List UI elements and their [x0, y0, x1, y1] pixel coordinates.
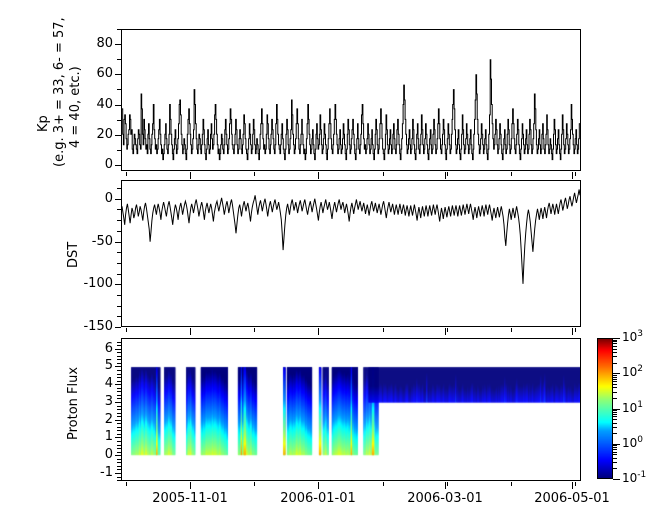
proton-flux-y-minor-tick — [117, 462, 121, 463]
colorbar-major-tick — [613, 373, 620, 374]
kp-axis-title-line3: 4 = 40, etc.) — [68, 66, 83, 148]
kp-axis-title-line1: Kp — [36, 115, 51, 132]
x-tick-label: 2006-03-01 — [390, 491, 500, 506]
x-major-tick — [445, 482, 446, 489]
proton-flux-y-minor-tick — [117, 381, 121, 382]
colorbar-minor-tick — [613, 454, 617, 455]
dst-y-tick-label: -100 — [59, 276, 113, 291]
dst-y-major-tick — [115, 284, 121, 285]
kp-y-tick-label: 80 — [59, 36, 113, 51]
colorbar-minor-tick — [613, 445, 617, 446]
proton-flux-y-minor-tick — [117, 398, 121, 399]
x-minor-tick — [447, 328, 448, 332]
colorbar-label-exponent: 3 — [637, 329, 643, 339]
proton-flux-axis-title: Proton Flux — [66, 367, 81, 440]
proton-flux-y-major-tick — [115, 455, 121, 456]
colorbar-minor-tick — [613, 449, 617, 450]
proton-flux-y-minor-tick — [117, 352, 121, 353]
proton-flux-y-minor-tick — [117, 477, 121, 478]
colorbar-minor-tick — [613, 349, 617, 350]
colorbar-minor-tick — [613, 356, 617, 357]
colorbar-minor-tick — [613, 414, 617, 415]
colorbar-minor-tick — [613, 343, 617, 344]
colorbar-minor-tick — [613, 346, 617, 347]
colorbar-tick-label: 100 — [622, 435, 643, 450]
x-tick-label: 2006-05-01 — [517, 491, 627, 506]
proton-flux-y-minor-tick — [117, 413, 121, 414]
dst-trace — [122, 181, 580, 326]
colorbar-tick-label: 102 — [622, 364, 643, 379]
proton-flux-y-minor-tick — [117, 466, 121, 467]
proton-flux-y-minor-tick — [117, 441, 121, 442]
kp-y-tick-label: 0 — [59, 157, 113, 172]
dst-line — [122, 189, 580, 283]
x-minor-tick — [575, 482, 576, 486]
proton-flux-y-minor-tick — [117, 359, 121, 360]
colorbar-minor-tick — [613, 419, 617, 420]
kp-y-major-tick — [115, 74, 121, 75]
x-major-tick — [190, 172, 191, 179]
proton-flux-y-minor-tick — [117, 480, 121, 481]
x-minor-tick — [511, 328, 512, 332]
dst-y-tick-label: -150 — [59, 319, 113, 334]
proton-flux-y-minor-tick — [117, 416, 121, 417]
colorbar-minor-tick — [613, 392, 617, 393]
proton-flux-y-minor-tick — [117, 459, 121, 460]
proton-flux-y-minor-tick — [117, 370, 121, 371]
proton-flux-y-minor-tick — [117, 391, 121, 392]
dst-y-minor-tick — [117, 188, 121, 189]
x-minor-tick — [383, 482, 384, 486]
proton-flux-plot-panel — [121, 338, 581, 481]
proton-flux-y-major-tick — [115, 366, 121, 367]
colorbar-gradient — [597, 338, 613, 479]
dst-y-major-tick — [115, 242, 121, 243]
dst-y-minor-tick — [117, 209, 121, 210]
kp-y-minor-tick — [117, 120, 121, 121]
dst-y-minor-tick — [117, 220, 121, 221]
proton-flux-y-major-tick — [115, 437, 121, 438]
x-minor-tick — [575, 328, 576, 332]
x-minor-tick — [447, 482, 448, 486]
dst-y-major-tick — [115, 199, 121, 200]
x-minor-tick — [254, 172, 255, 176]
proton-flux-y-major-tick — [115, 384, 121, 385]
kp-y-minor-tick — [117, 89, 121, 90]
colorbar-minor-tick — [613, 410, 617, 411]
x-minor-tick — [575, 172, 576, 176]
colorbar-tick-label: 103 — [622, 329, 643, 344]
proton-flux-y-major-tick — [115, 420, 121, 421]
colorbar-minor-tick — [613, 381, 617, 382]
colorbar-minor-tick — [613, 375, 617, 376]
proton-flux-y-minor-tick — [117, 363, 121, 364]
x-minor-tick — [383, 328, 384, 332]
x-minor-tick — [126, 482, 127, 486]
colorbar-minor-tick — [613, 412, 617, 413]
colorbar-label-mantissa: 10 — [622, 365, 637, 379]
kp-y-major-tick — [115, 105, 121, 106]
proton-flux-y-minor-tick — [117, 342, 121, 343]
proton-flux-y-minor-tick — [117, 409, 121, 410]
proton-flux-y-major-tick — [115, 349, 121, 350]
colorbar-label-exponent: 0 — [637, 435, 643, 445]
proton-flux-y-minor-tick — [117, 388, 121, 389]
dst-axis-title: DST — [66, 242, 81, 268]
proton-flux-y-tick-label: -1 — [59, 465, 113, 480]
x-minor-tick — [254, 482, 255, 486]
kp-y-minor-tick — [117, 150, 121, 151]
proton-flux-y-minor-tick — [117, 434, 121, 435]
dst-y-minor-tick — [117, 263, 121, 264]
colorbar-tick-label: 10-1 — [622, 470, 646, 485]
proton-flux-heatmap — [122, 339, 580, 480]
colorbar-label-mantissa: 10 — [622, 471, 637, 485]
dst-y-minor-tick — [117, 306, 121, 307]
kp-y-major-tick — [115, 135, 121, 136]
x-major-tick — [572, 482, 573, 489]
proton-flux-y-minor-tick — [117, 448, 121, 449]
proton-flux-y-minor-tick — [117, 377, 121, 378]
colorbar-label-mantissa: 10 — [622, 330, 637, 344]
dst-y-minor-tick — [117, 252, 121, 253]
x-major-tick — [318, 328, 319, 335]
colorbar-minor-tick — [613, 468, 617, 469]
proton-flux-y-minor-tick — [117, 374, 121, 375]
proton-flux-y-minor-tick — [117, 406, 121, 407]
dst-y-minor-tick — [117, 231, 121, 232]
colorbar-minor-tick — [613, 384, 617, 385]
x-major-tick — [318, 482, 319, 489]
kp-y-minor-tick — [117, 29, 121, 30]
colorbar-minor-tick — [613, 458, 617, 459]
proton-flux-y-minor-tick — [117, 452, 121, 453]
proton-flux-y-minor-tick — [117, 345, 121, 346]
colorbar-minor-tick — [613, 462, 617, 463]
x-major-tick — [190, 328, 191, 335]
colorbar-minor-tick — [613, 433, 617, 434]
figure-root: 020406080 Kp (e.g. 3+ = 33, 6- = 57, 4 =… — [0, 0, 665, 523]
kp-trace — [122, 30, 580, 170]
kp-line — [122, 60, 580, 160]
proton-flux-y-minor-tick — [117, 427, 121, 428]
proton-flux-y-minor-tick — [117, 356, 121, 357]
x-minor-tick — [126, 172, 127, 176]
kp-y-minor-tick — [117, 59, 121, 60]
colorbar-minor-tick — [613, 352, 617, 353]
colorbar-minor-tick — [613, 377, 617, 378]
proton-flux-y-major-tick — [115, 402, 121, 403]
kp-axis-title-line2: (e.g. 3+ = 33, 6- = 57, — [52, 17, 67, 167]
x-major-tick — [445, 172, 446, 179]
kp-plot-panel — [121, 29, 581, 171]
colorbar-label-mantissa: 10 — [622, 401, 637, 415]
colorbar-label-mantissa: 10 — [622, 436, 637, 450]
proton-flux-y-tick-label: 6 — [59, 341, 113, 356]
proton-flux-y-major-tick — [115, 473, 121, 474]
colorbar-minor-tick — [613, 387, 617, 388]
proton-flux-y-minor-tick — [117, 423, 121, 424]
proton-flux-y-minor-tick — [117, 430, 121, 431]
x-minor-tick — [447, 172, 448, 176]
colorbar-minor-tick — [613, 341, 617, 342]
x-minor-tick — [126, 328, 127, 332]
x-tick-label: 2006-01-01 — [263, 491, 373, 506]
kp-y-major-tick — [115, 165, 121, 166]
dst-y-minor-tick — [117, 316, 121, 317]
colorbar-major-tick — [613, 338, 620, 339]
proton-flux-y-minor-tick — [117, 445, 121, 446]
colorbar-minor-tick — [613, 340, 617, 341]
colorbar-label-exponent: 2 — [637, 364, 643, 374]
dst-plot-panel — [121, 180, 581, 327]
colorbar-minor-tick — [613, 398, 617, 399]
dst-y-minor-tick — [117, 295, 121, 296]
kp-y-major-tick — [115, 44, 121, 45]
x-minor-tick — [383, 172, 384, 176]
x-tick-label: 2005-11-01 — [135, 491, 245, 506]
dst-y-tick-label: 0 — [59, 191, 113, 206]
colorbar-minor-tick — [613, 452, 617, 453]
colorbar-minor-tick — [613, 363, 617, 364]
colorbar-major-tick — [613, 479, 620, 480]
dst-y-major-tick — [115, 327, 121, 328]
colorbar-label-exponent: -1 — [637, 470, 646, 480]
proton-flux-y-minor-tick — [117, 469, 121, 470]
x-minor-tick — [511, 482, 512, 486]
x-major-tick — [318, 172, 319, 179]
x-minor-tick — [254, 328, 255, 332]
proton-flux-y-tick-label: 0 — [59, 447, 113, 462]
x-major-tick — [572, 328, 573, 335]
colorbar-minor-tick — [613, 416, 617, 417]
proton-flux-y-minor-tick — [117, 395, 121, 396]
x-major-tick — [445, 328, 446, 335]
colorbar-minor-tick — [613, 427, 617, 428]
colorbar-minor-tick — [613, 379, 617, 380]
colorbar-tick-label: 101 — [622, 400, 643, 415]
colorbar-label-exponent: 1 — [637, 400, 643, 410]
x-major-tick — [190, 482, 191, 489]
x-major-tick — [572, 172, 573, 179]
x-minor-tick — [511, 172, 512, 176]
colorbar-minor-tick — [613, 447, 617, 448]
dst-y-minor-tick — [117, 274, 121, 275]
colorbar-minor-tick — [613, 423, 617, 424]
